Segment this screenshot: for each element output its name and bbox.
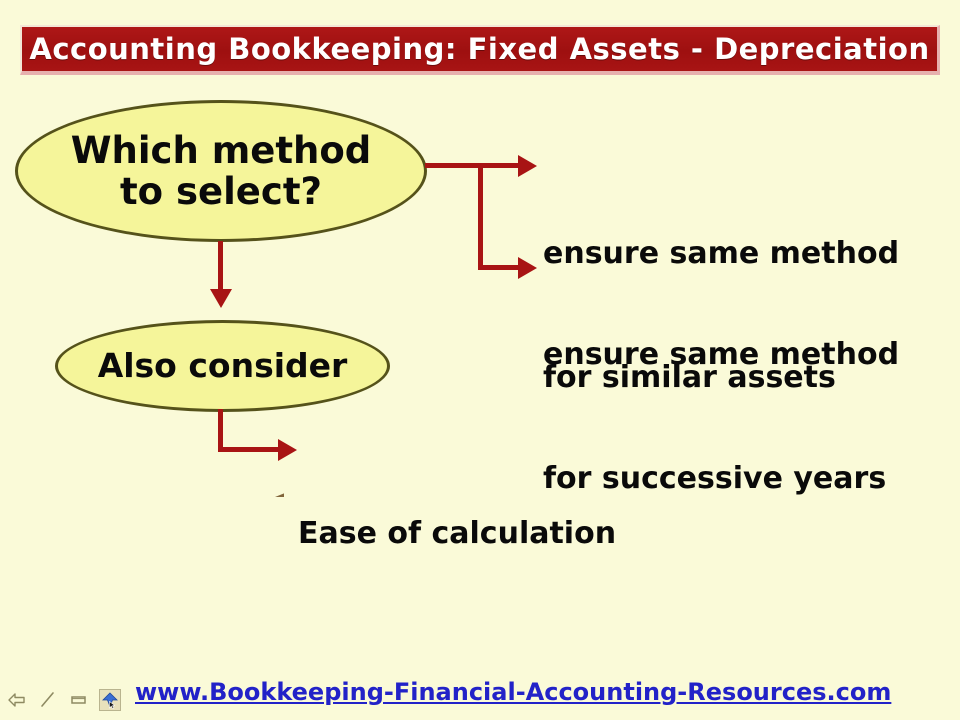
arrowhead-also-consider-icon bbox=[210, 289, 232, 308]
rectangle-icon[interactable] bbox=[68, 689, 90, 711]
pointer-icon[interactable] bbox=[99, 689, 121, 711]
connector-branch-similar-assets bbox=[478, 163, 520, 168]
connector-method-trunk-vertical bbox=[478, 163, 483, 270]
pen-icon[interactable] bbox=[37, 689, 59, 711]
slide-canvas: Accounting Bookkeeping: Fixed Assets - D… bbox=[0, 0, 960, 720]
node-which-method-label: Which method to select? bbox=[71, 130, 372, 213]
connector-also-vertical bbox=[218, 409, 223, 452]
left-arrow-icon[interactable] bbox=[6, 689, 28, 711]
connector-method-to-also bbox=[218, 241, 223, 291]
slide-title-bar: Accounting Bookkeeping: Fixed Assets - D… bbox=[20, 25, 940, 75]
node-also-consider-label: Also consider bbox=[98, 348, 348, 385]
node-also-consider: Also consider bbox=[55, 320, 390, 412]
connector-branch-successive-years bbox=[478, 265, 520, 270]
connector-also-horizontal bbox=[218, 447, 280, 452]
arrowhead-ease-of-calculation-icon bbox=[278, 439, 297, 461]
annotation-toolbar bbox=[6, 689, 121, 711]
branch-label-ease-of-calculation: Ease of calculation bbox=[298, 430, 616, 637]
node-which-method: Which method to select? bbox=[15, 100, 427, 242]
arrowhead-similar-assets-icon bbox=[518, 155, 537, 177]
arrowhead-successive-years-icon bbox=[518, 257, 537, 279]
stray-mark-artifact bbox=[275, 491, 284, 497]
branch-label-ease-of-calculation-line1: Ease of calculation bbox=[298, 513, 616, 554]
branch-label-successive-years-line1: ensure same method bbox=[543, 334, 899, 375]
footer-website-link[interactable]: www.Bookkeeping-Financial-Accounting-Res… bbox=[135, 678, 891, 706]
page-title: Accounting Bookkeeping: Fixed Assets - D… bbox=[29, 32, 929, 66]
